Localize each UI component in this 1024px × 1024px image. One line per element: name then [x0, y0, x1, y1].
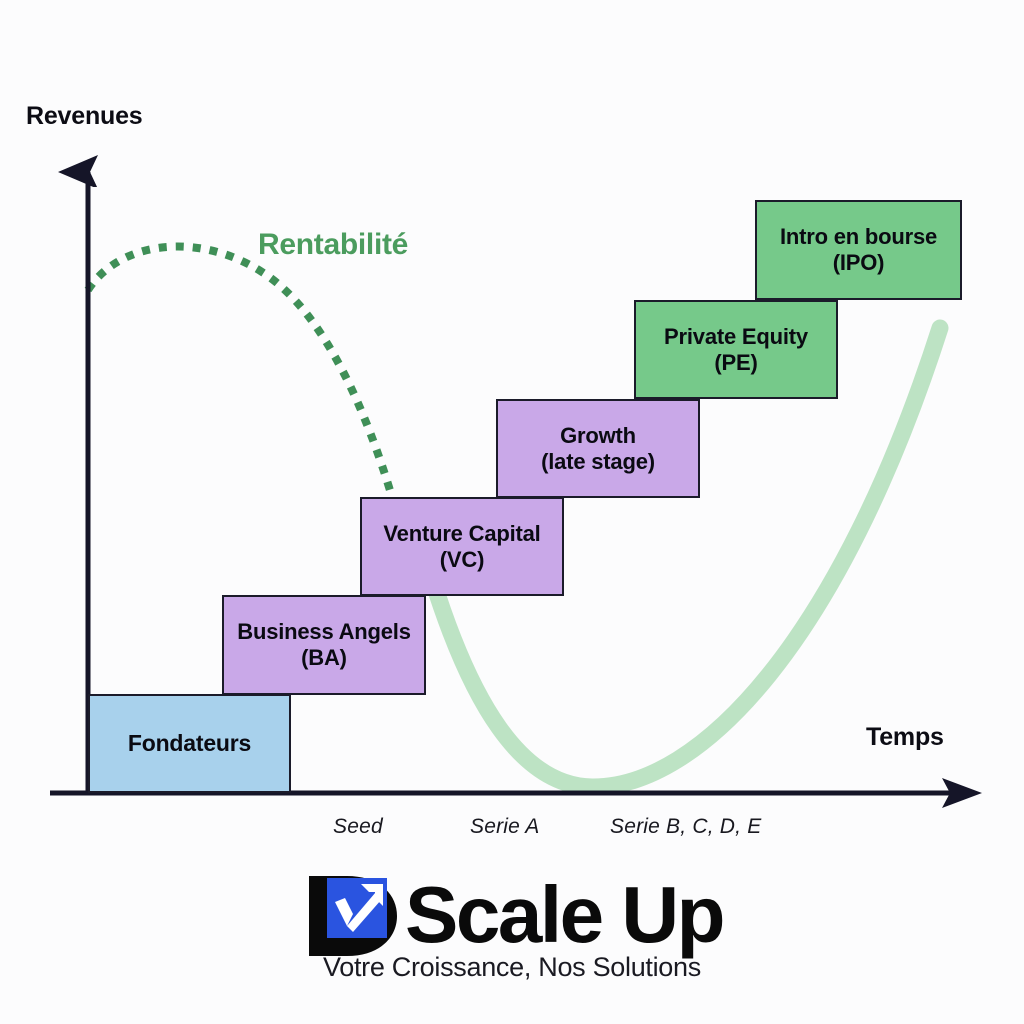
- diagram-canvas: Revenues Temps Rentabilité Fondateurs Bu…: [0, 0, 1024, 1024]
- y-axis-label: Revenues: [26, 102, 143, 131]
- x-tick-label-serie-a: Serie A: [470, 815, 540, 839]
- stage-box-business-angels[interactable]: Business Angels (BA): [222, 595, 426, 695]
- logo-wordmark: Scale Up: [405, 877, 723, 953]
- stage-box-venture-capital[interactable]: Venture Capital (VC): [360, 497, 564, 596]
- stage-box-fondateurs[interactable]: Fondateurs: [88, 694, 291, 793]
- x-tick-label-serie-bcde: Serie B, C, D, E: [610, 815, 761, 839]
- brand-logo: Scale Up Votre Croissance, Nos Solutions: [0, 872, 1024, 983]
- x-tick-label-seed: Seed: [333, 815, 383, 839]
- x-axis-label: Temps: [866, 723, 944, 752]
- profitability-label: Rentabilité: [258, 228, 408, 262]
- scale-up-checkmark-arrow-icon: [301, 872, 409, 958]
- stage-box-private-equity[interactable]: Private Equity (PE): [634, 300, 838, 399]
- profitability-dotted-curve: [88, 247, 392, 497]
- logo-row: Scale Up: [301, 872, 723, 958]
- stage-box-ipo[interactable]: Intro en bourse (IPO): [755, 200, 962, 300]
- stage-box-growth[interactable]: Growth (late stage): [496, 399, 700, 498]
